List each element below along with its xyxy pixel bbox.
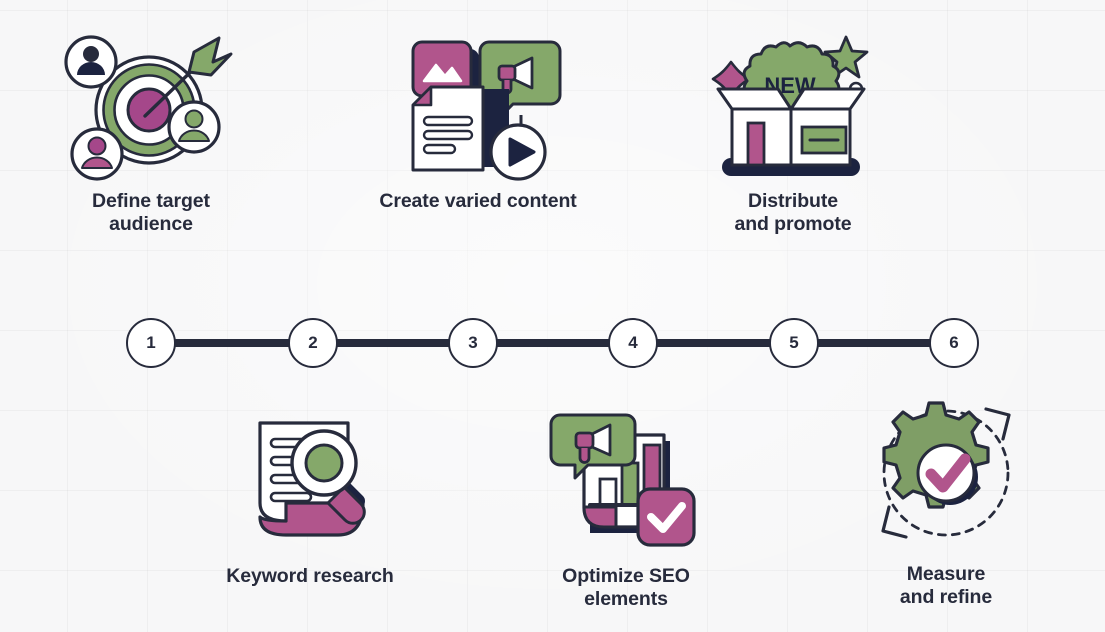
timeline-node-5[interactable]: 5 <box>769 318 819 368</box>
step-1-define-target-audience[interactable]: Define target audience <box>36 22 266 236</box>
timeline-node-3[interactable]: 3 <box>448 318 498 368</box>
timeline-node-4[interactable]: 4 <box>608 318 658 368</box>
timeline-node-1[interactable]: 1 <box>126 318 176 368</box>
optimize-seo-icon <box>546 403 706 553</box>
step-2-label: Create varied content <box>363 190 593 213</box>
step-3-distribute-and-promote[interactable]: NEW Distribute and promote <box>678 22 908 236</box>
step-1-icon-wrap <box>36 22 266 182</box>
step-6-label: Measure and refine <box>831 563 1061 609</box>
step-4-label: Keyword research <box>195 565 425 588</box>
arrow-head-top <box>986 409 1009 439</box>
step-1-label: Define target audience <box>36 190 266 236</box>
step-2-create-varied-content[interactable]: Create varied content <box>363 22 593 213</box>
timeline-node-6[interactable]: 6 <box>929 318 979 368</box>
arrow-head-bottom <box>883 507 906 537</box>
keyword-research-icon <box>228 403 393 553</box>
step-6-measure-and-refine[interactable]: Measure and refine <box>831 398 1061 609</box>
step-4-icon-wrap <box>195 400 425 555</box>
step-2-icon-wrap <box>363 22 593 182</box>
step-5-icon-wrap <box>511 400 741 555</box>
step-5-label: Optimize SEO elements <box>511 565 741 611</box>
timeline-node-2[interactable]: 2 <box>288 318 338 368</box>
target-audience-icon <box>61 32 241 182</box>
step-3-icon-wrap: NEW <box>678 22 908 182</box>
process-timeline: 1 2 3 4 5 6 <box>0 312 1105 374</box>
step-3-label: Distribute and promote <box>678 190 908 236</box>
varied-content-icon <box>391 27 566 182</box>
step-5-optimize-seo-elements[interactable]: Optimize SEO elements <box>511 400 741 611</box>
measure-refine-icon <box>869 401 1024 551</box>
step-6-icon-wrap <box>831 398 1061 553</box>
step-4-keyword-research[interactable]: Keyword research <box>195 400 425 588</box>
distribute-box-icon: NEW <box>706 27 881 182</box>
infographic-canvas: Define target audience <box>0 0 1105 632</box>
